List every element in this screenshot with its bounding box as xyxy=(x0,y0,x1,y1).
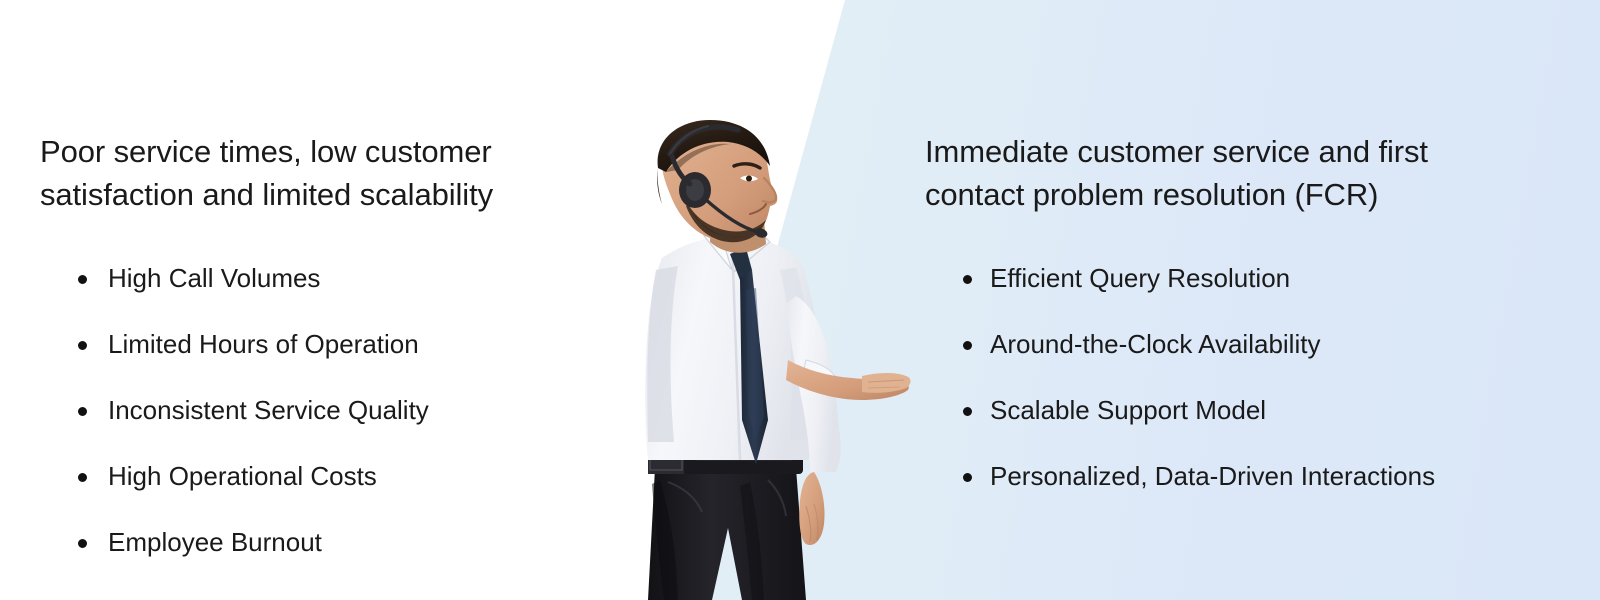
list-item: Limited Hours of Operation xyxy=(40,329,600,359)
bullet-dot-icon xyxy=(963,473,972,482)
bullet-dot-icon xyxy=(963,341,972,350)
bullet-dot-icon xyxy=(78,341,87,350)
right-column: Immediate customer service and first con… xyxy=(925,130,1565,527)
agent-head xyxy=(657,120,777,242)
bullet-dot-icon xyxy=(78,539,87,548)
list-item-label: Efficient Query Resolution xyxy=(990,263,1290,293)
bullet-dot-icon xyxy=(78,473,87,482)
list-item-label: Personalized, Data-Driven Interactions xyxy=(990,461,1435,491)
list-item-label: Employee Burnout xyxy=(108,527,322,557)
list-item: Scalable Support Model xyxy=(925,395,1565,425)
left-panel-heading: Poor service times, low customer satisfa… xyxy=(40,130,600,216)
right-bullet-list: Efficient Query Resolution Around-the-Cl… xyxy=(925,263,1565,491)
list-item-label: High Call Volumes xyxy=(108,263,320,293)
list-item: Around-the-Clock Availability xyxy=(925,329,1565,359)
list-item-label: Limited Hours of Operation xyxy=(108,329,419,359)
list-item: Employee Burnout xyxy=(40,527,600,557)
list-item: Personalized, Data-Driven Interactions xyxy=(925,461,1565,491)
left-column: Poor service times, low customer satisfa… xyxy=(40,130,600,593)
list-item-label: Around-the-Clock Availability xyxy=(990,329,1320,359)
slide-canvas: Poor service times, low customer satisfa… xyxy=(0,0,1600,600)
bullet-dot-icon xyxy=(963,407,972,416)
trousers xyxy=(648,468,806,600)
call-center-agent-photo xyxy=(600,120,930,600)
list-item-label: Scalable Support Model xyxy=(990,395,1266,425)
list-item: High Operational Costs xyxy=(40,461,600,491)
list-item: Inconsistent Service Quality xyxy=(40,395,600,425)
list-item-label: High Operational Costs xyxy=(108,461,377,491)
list-item: Efficient Query Resolution xyxy=(925,263,1565,293)
list-item: High Call Volumes xyxy=(40,263,600,293)
list-item-label: Inconsistent Service Quality xyxy=(108,395,429,425)
left-bullet-list: High Call Volumes Limited Hours of Opera… xyxy=(40,263,600,557)
bullet-dot-icon xyxy=(78,407,87,416)
bullet-dot-icon xyxy=(963,275,972,284)
bullet-dot-icon xyxy=(78,275,87,284)
right-panel-heading: Immediate customer service and first con… xyxy=(925,130,1565,216)
